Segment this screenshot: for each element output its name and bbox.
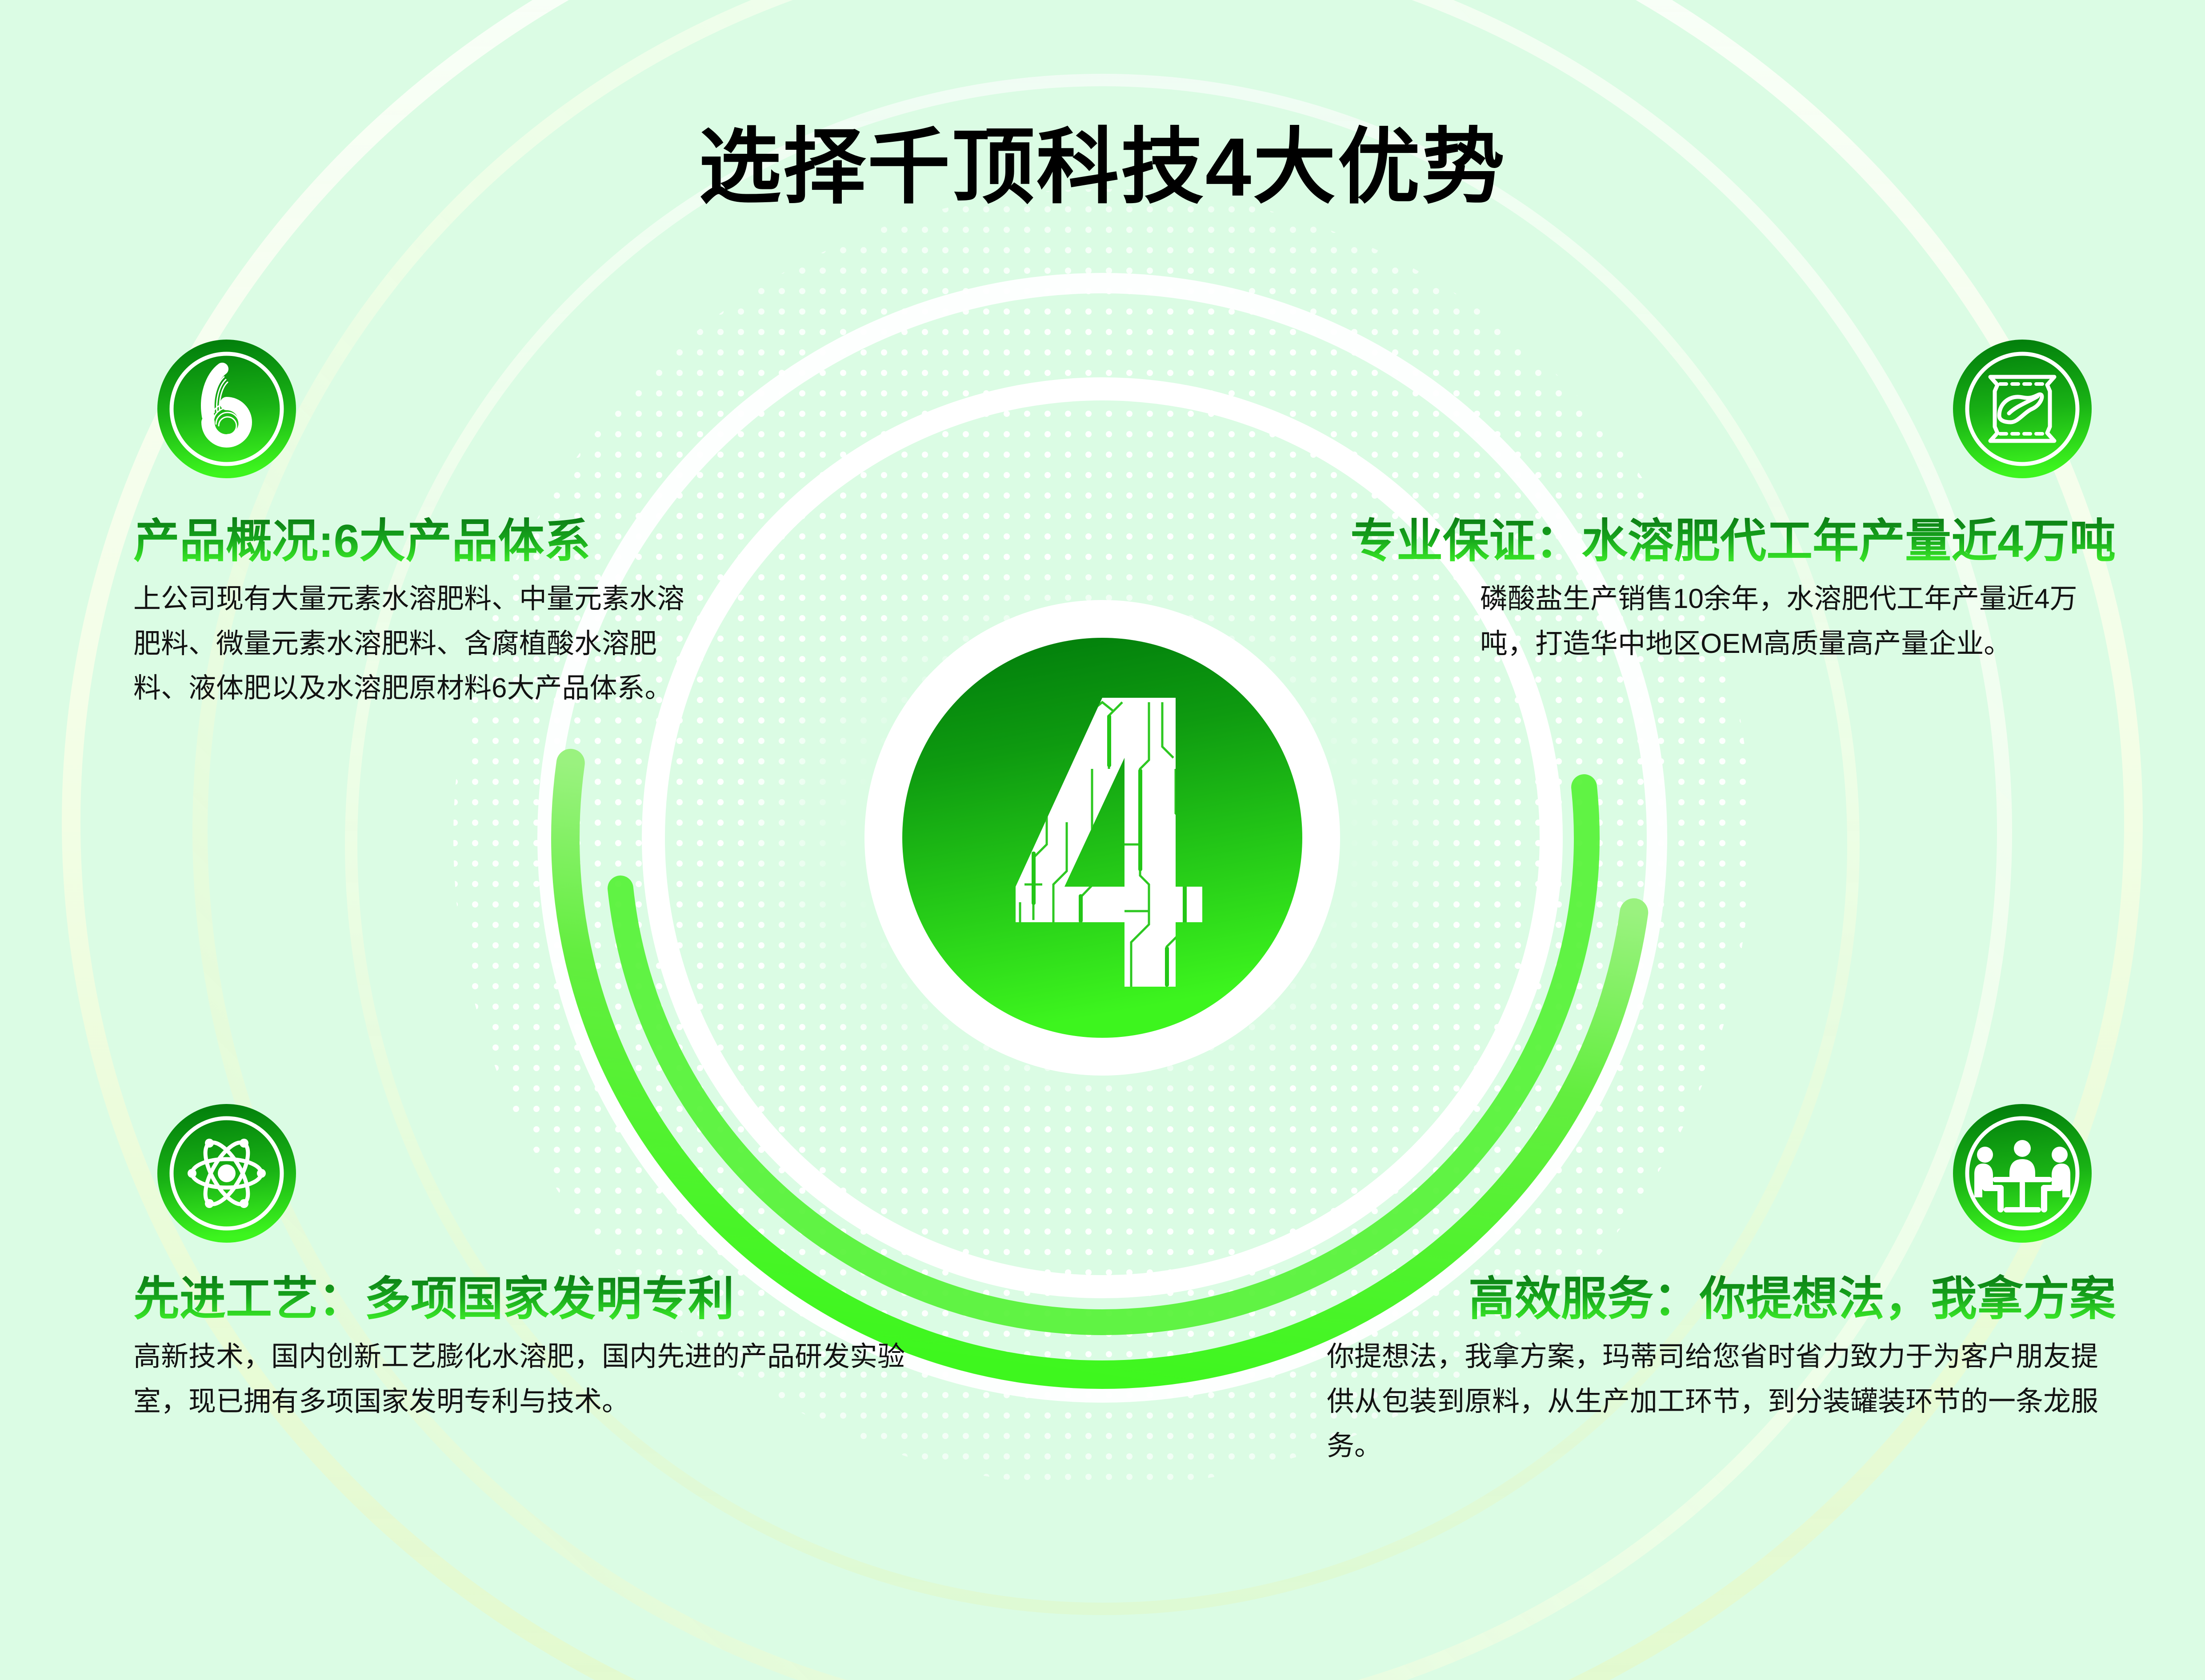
headline-top-left: 产品概况:6大产品体系 — [133, 516, 696, 571]
atom-icon — [156, 1102, 298, 1244]
text-block-top-right: 专业保证：水溶肥代工年产量近4万吨 磷酸盐生产销售10余年，水溶肥代工年产量近4… — [1193, 516, 2116, 666]
meeting-people-icon — [1951, 1102, 2093, 1244]
body-top-right: 磷酸盐生产销售10余年，水溶肥代工年产量近4万吨，打造华中地区OEM高质量高产量… — [1480, 577, 2116, 666]
page-title: 选择千顶科技4大优势 — [0, 122, 2205, 213]
icon-wrapper-bottom-right — [1951, 1102, 2093, 1244]
infographic-canvas: 选择千顶科技4大优势 — [0, 0, 2205, 1680]
headline-top-right: 专业保证：水溶肥代工年产量近4万吨 — [1193, 516, 2116, 571]
icon-wrapper-top-left — [156, 338, 298, 480]
body-bottom-right: 你提想法，我拿方案，玛蒂司给您省时省力致力于为客户朋友提供从包装到原料，从生产加… — [1327, 1335, 2116, 1468]
text-block-bottom-left: 先进工艺：多项国家发明专利 高新技术，国内创新工艺膨化水溶肥，国内先进的产品研发… — [133, 1273, 907, 1424]
number-six-rings-icon — [156, 338, 298, 480]
text-block-top-left: 产品概况:6大产品体系 上公司现有大量元素水溶肥料、中量元素水溶肥料、微量元素水… — [133, 516, 696, 711]
text-block-bottom-right: 高效服务：你提想法，我拿方案 你提想法，我拿方案，玛蒂司给您省时省力致力于为客户… — [1327, 1273, 2116, 1469]
body-top-left: 上公司现有大量元素水溶肥料、中量元素水溶肥料、微量元素水溶肥料、含腐植酸水溶肥料… — [133, 577, 696, 711]
headline-bottom-right: 高效服务：你提想法，我拿方案 — [1327, 1273, 2116, 1328]
body-bottom-left: 高新技术，国内创新工艺膨化水溶肥，国内先进的产品研发实验室，现已拥有多项国家发明… — [133, 1335, 907, 1424]
icon-wrapper-top-right — [1951, 338, 2093, 480]
headline-bottom-left: 先进工艺：多项国家发明专利 — [133, 1273, 907, 1328]
fertilizer-bag-icon — [1951, 338, 2093, 480]
icon-wrapper-bottom-left — [156, 1102, 298, 1244]
center-number-medal — [900, 636, 1305, 1040]
